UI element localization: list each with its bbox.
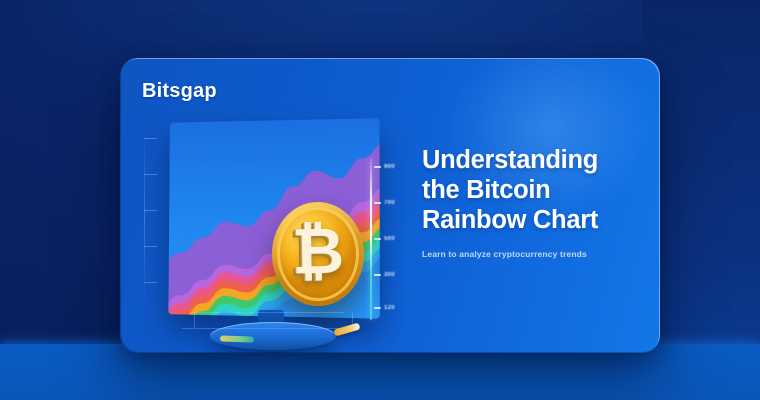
rainbow-chart-illustration: ₿ 900700500300120 xyxy=(138,110,408,350)
axis-tick-mark xyxy=(374,274,381,276)
bitsgap-logo[interactable]: Bitsgap xyxy=(142,80,217,103)
hero-copy: Understanding the Bitcoin Rainbow Chart … xyxy=(422,146,640,259)
page-subtitle: Learn to analyze cryptocurrency trends xyxy=(422,249,640,259)
axis-tick-mark xyxy=(374,166,381,168)
desk-wireframe xyxy=(138,306,388,353)
chart-right-axis: 900700500300120 xyxy=(370,158,422,320)
hero-card: Bitsgap ₿ xyxy=(120,58,660,353)
axis-line xyxy=(370,158,372,320)
headline-line-1: Understanding xyxy=(422,146,640,176)
axis-tick-label: 500 xyxy=(384,236,395,242)
bitcoin-symbol: ₿ xyxy=(291,220,344,285)
axis-tick-label: 900 xyxy=(384,164,395,170)
headline-line-2: the Bitcoin xyxy=(422,176,640,206)
axis-tick-mark xyxy=(374,202,381,204)
axis-tick: 300 xyxy=(374,272,395,278)
axis-tick-label: 300 xyxy=(384,272,395,278)
hero-banner: Bitsgap ₿ xyxy=(0,0,760,400)
axis-tick-label: 700 xyxy=(384,200,395,206)
axis-tick: 900 xyxy=(374,164,395,170)
axis-tick: 700 xyxy=(374,200,395,206)
axis-tick: 500 xyxy=(374,236,395,242)
headline-line-3: Rainbow Chart xyxy=(422,206,640,236)
axis-tick-mark xyxy=(374,238,381,240)
page-title: Understanding the Bitcoin Rainbow Chart xyxy=(422,146,640,235)
